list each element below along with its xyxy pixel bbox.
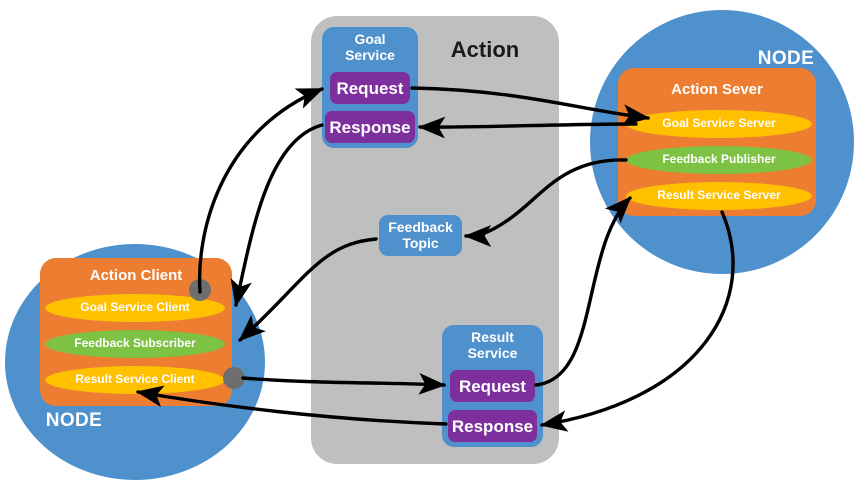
client-result-connector-dot bbox=[223, 367, 245, 389]
client-goal-connector-dot bbox=[189, 279, 211, 301]
pill-feedback-publisher[interactable] bbox=[626, 146, 812, 174]
pill-feedback-subscriber[interactable] bbox=[45, 330, 225, 358]
goal-service-response-box[interactable] bbox=[325, 111, 415, 143]
diagram-canvas: Action Goal Service Request Response Fee… bbox=[0, 0, 854, 480]
feedback-topic-box[interactable] bbox=[379, 215, 462, 256]
result-service-response-box[interactable] bbox=[448, 410, 537, 442]
pill-goal-service-server[interactable] bbox=[626, 110, 812, 138]
result-service-request-box[interactable] bbox=[450, 370, 535, 402]
goal-service-request-box[interactable] bbox=[330, 72, 410, 104]
pill-result-service-server[interactable] bbox=[626, 182, 812, 210]
pill-result-service-client[interactable] bbox=[45, 366, 225, 394]
diagram-shapes bbox=[0, 0, 854, 480]
